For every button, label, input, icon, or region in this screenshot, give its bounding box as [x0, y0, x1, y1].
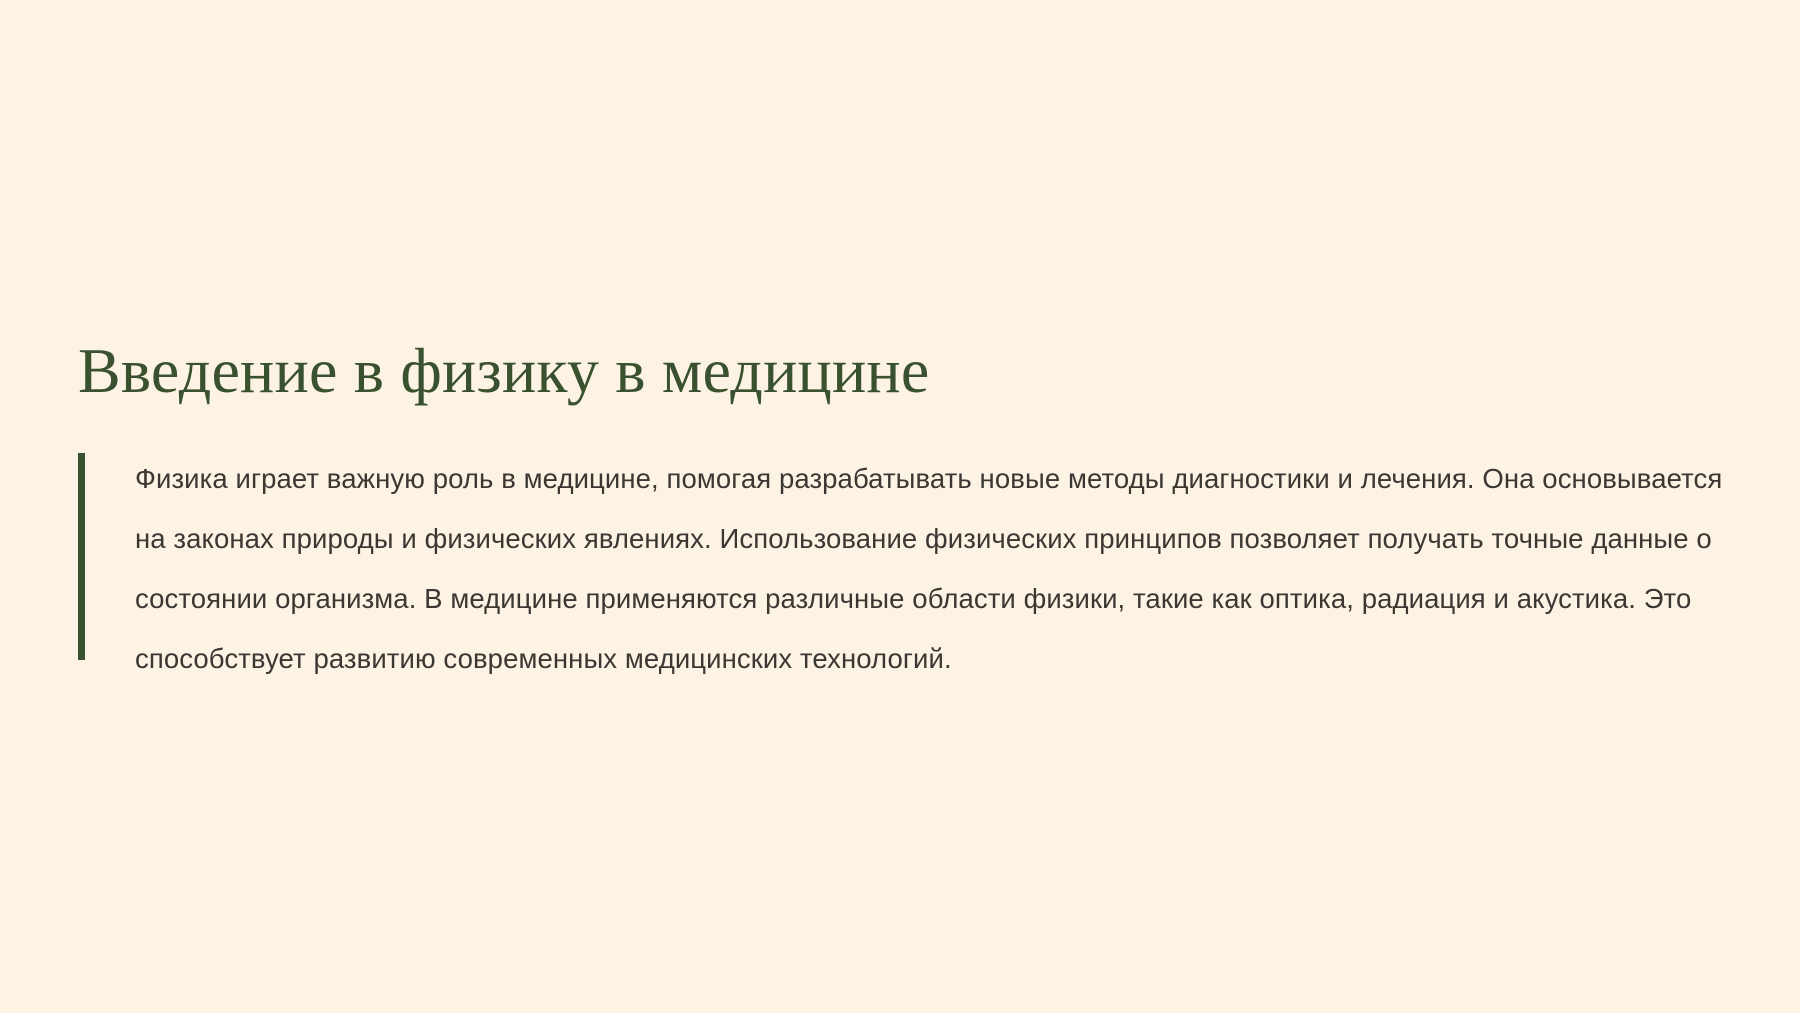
page-title: Введение в физику в медицине — [78, 336, 1728, 405]
body-paragraph: Физика играет важную роль в медицине, по… — [135, 449, 1727, 689]
body-block: Физика играет важную роль в медицине, по… — [78, 449, 1728, 689]
slide-root: Введение в физику в медицине Физика игра… — [0, 0, 1800, 1013]
accent-bar — [78, 453, 85, 660]
slide-content: Введение в физику в медицине Физика игра… — [78, 336, 1728, 689]
